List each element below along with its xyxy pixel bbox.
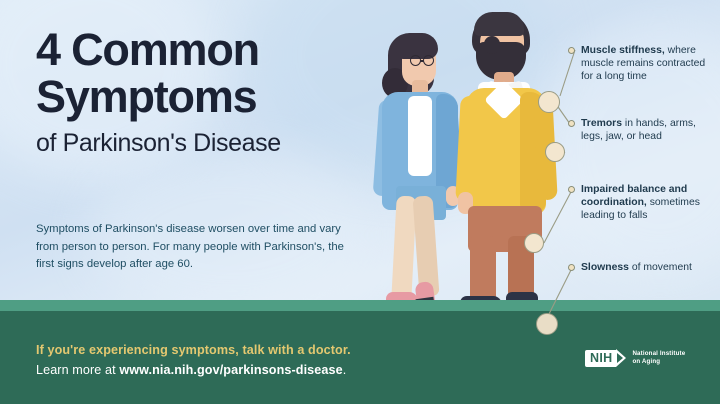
bullet-dot-icon bbox=[568, 186, 575, 193]
learn-more-suffix: . bbox=[343, 363, 347, 377]
nih-org-name: National Institute on Aging bbox=[632, 350, 685, 366]
woman-glasses-right-lens bbox=[423, 55, 434, 66]
couple-illustration bbox=[360, 0, 590, 340]
title-line-1: 4 Common bbox=[36, 26, 386, 73]
chevron-inner-icon bbox=[617, 353, 623, 363]
infographic-canvas: 4 Common Symptoms of Parkinson's Disease… bbox=[0, 0, 720, 404]
callout-node-arm bbox=[545, 142, 565, 162]
woman-glasses-bridge bbox=[420, 60, 424, 62]
nih-mark-text: NIH bbox=[585, 350, 616, 367]
symptom-text: Impaired balance and coordination, somet… bbox=[581, 183, 715, 223]
man-hair-top bbox=[474, 12, 524, 36]
symptom-callout-muscle-stiffness: Muscle stiffness, where muscle remains c… bbox=[581, 44, 715, 84]
nih-org-line-2: on Aging bbox=[632, 358, 685, 366]
woman-cardigan-opening bbox=[408, 96, 432, 176]
symptom-bold: Tremors bbox=[581, 118, 622, 129]
symptom-callout-impaired-balance: Impaired balance and coordination, somet… bbox=[581, 183, 715, 223]
footer-learn-more: Learn more at www.nia.nih.gov/parkinsons… bbox=[36, 363, 346, 377]
learn-more-prefix: Learn more at bbox=[36, 363, 119, 377]
bullet-dot-icon bbox=[568, 264, 575, 271]
man-moustache bbox=[484, 36, 500, 54]
symptom-text: Tremors in hands, arms, legs, jaw, or he… bbox=[581, 117, 715, 143]
intro-paragraph: Symptoms of Parkinson's disease worsen o… bbox=[36, 221, 356, 274]
symptom-bold: Slowness bbox=[581, 262, 629, 273]
callout-node-shoulder bbox=[538, 91, 560, 113]
nih-wordmark: NIH bbox=[585, 349, 626, 367]
bullet-dot-icon bbox=[568, 47, 575, 54]
symptom-text: Slowness of movement bbox=[581, 261, 715, 274]
callout-node-hand bbox=[524, 233, 544, 253]
bullet-dot-icon bbox=[568, 120, 575, 127]
page-title: 4 Common Symptoms of Parkinson's Disease bbox=[36, 26, 386, 157]
symptom-bold: Muscle stiffness, bbox=[581, 45, 665, 56]
symptom-rest: of movement bbox=[629, 262, 692, 273]
callout-node-foot bbox=[536, 313, 558, 335]
symptom-callout-tremors: Tremors in hands, arms, legs, jaw, or he… bbox=[581, 117, 715, 143]
title-line-2: Symptoms bbox=[36, 73, 386, 120]
symptom-text: Muscle stiffness, where muscle remains c… bbox=[581, 44, 715, 84]
symptom-callout-slowness: Slowness of movement bbox=[581, 261, 715, 274]
footer-call-to-action: If you're experiencing symptoms, talk wi… bbox=[36, 343, 351, 357]
nih-org-line-1: National Institute bbox=[632, 350, 685, 358]
footer-url-link[interactable]: www.nia.nih.gov/parkinsons-disease bbox=[119, 363, 342, 377]
nih-logo: NIH National Institute on Aging bbox=[585, 349, 685, 367]
title-subtitle: of Parkinson's Disease bbox=[36, 129, 386, 157]
